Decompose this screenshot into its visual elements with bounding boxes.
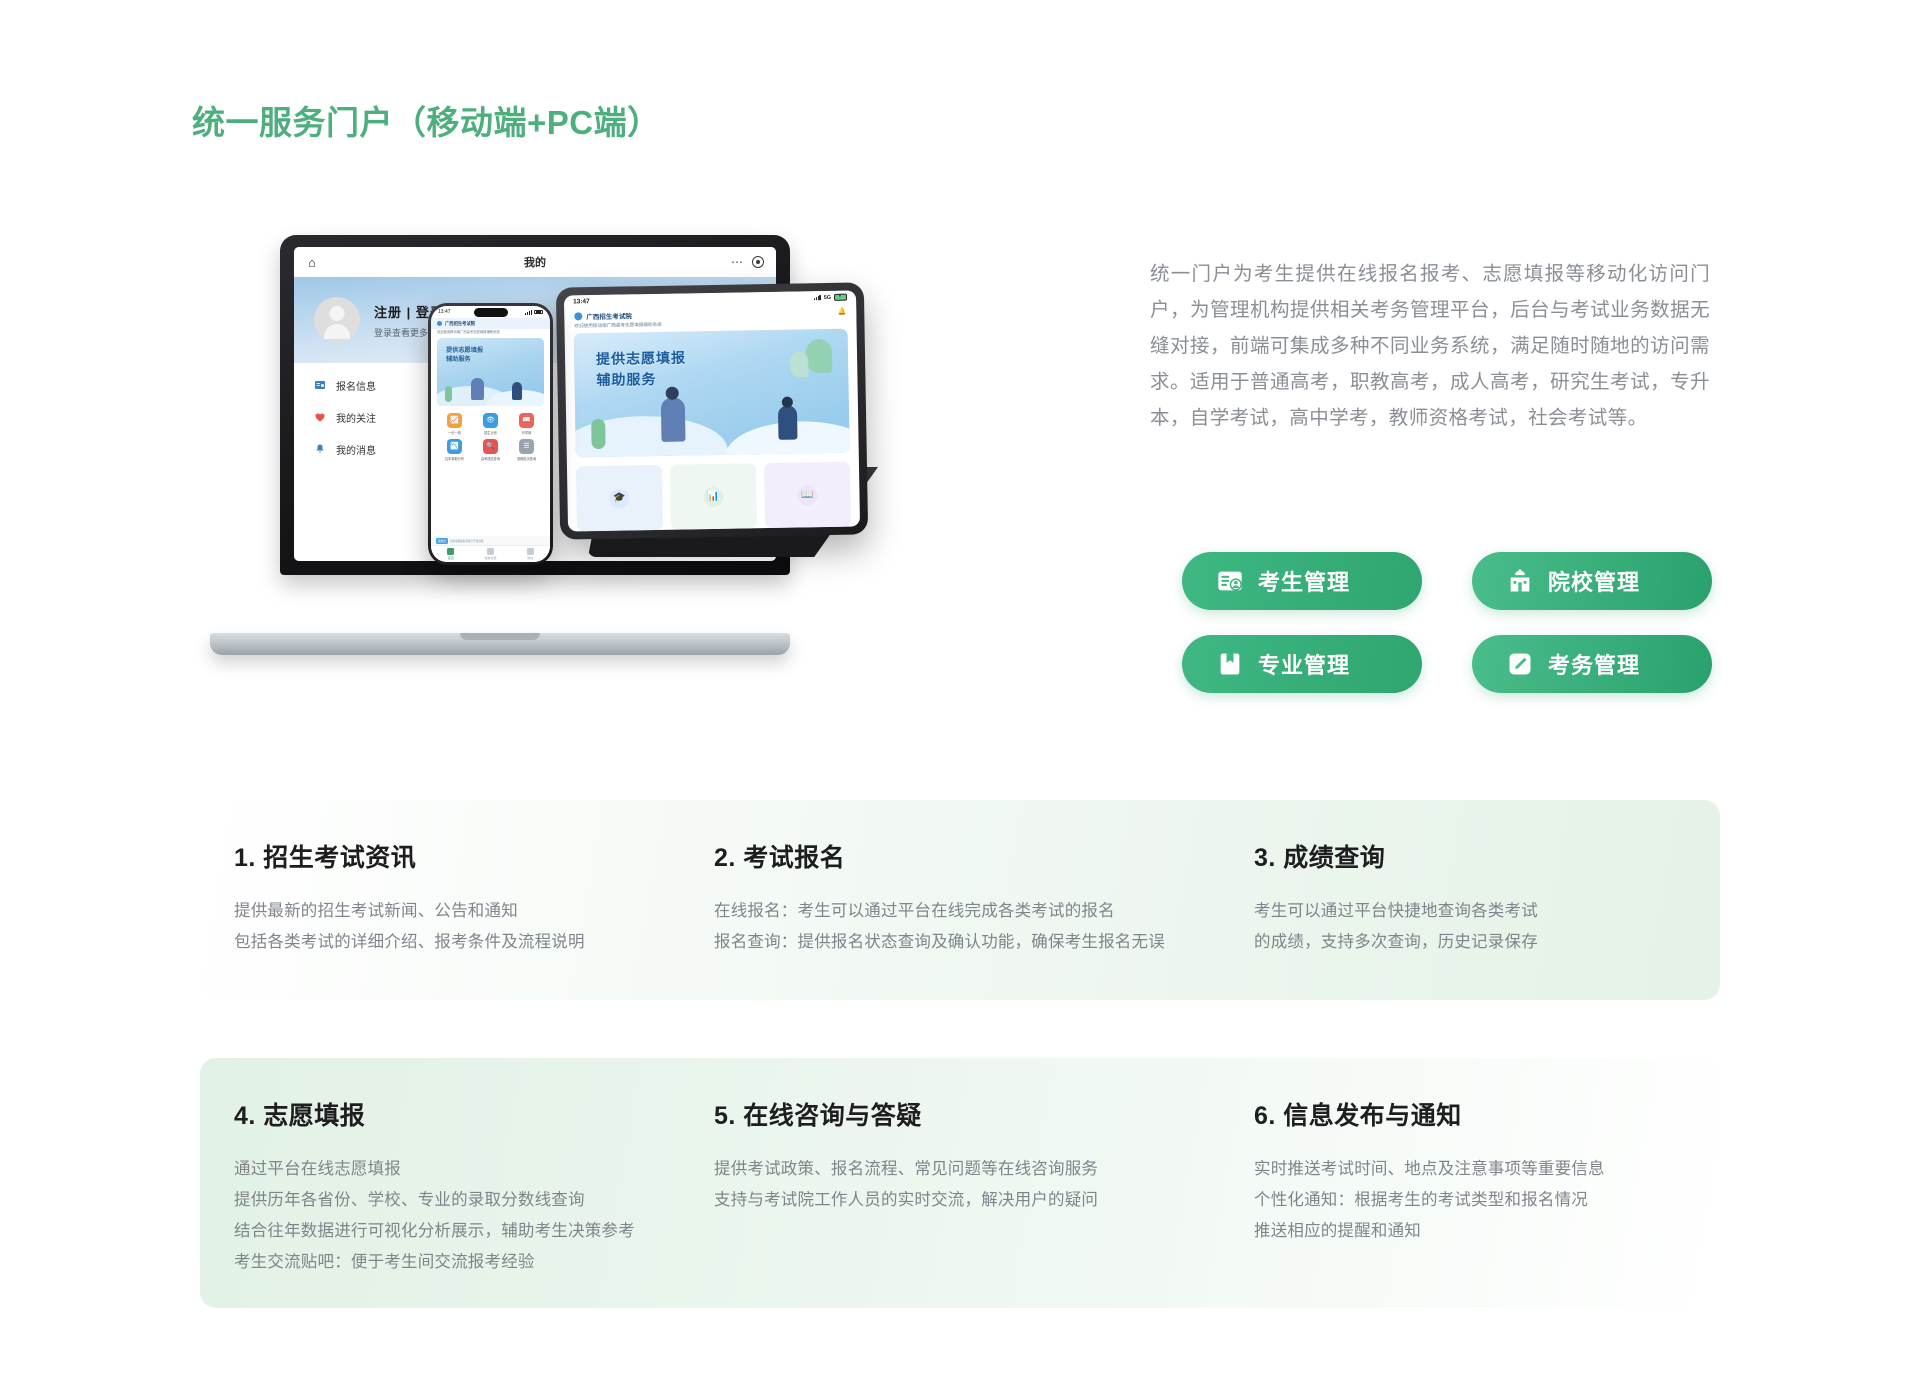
feature-line: 在线报名：考生可以通过平台在线完成各类考试的报名 [714,896,1186,927]
feature-line: 报名查询：提供报名状态查询及确认功能，确保考生报名无误 [714,927,1186,958]
phone-notice-bar[interactable]: 模拟志 志愿填报辅助系统已开放注册 [431,536,550,545]
phone-welcome-text: 欢迎使用移动端广西高考志愿填报辅助系统 [431,329,550,338]
form-icon [314,379,326,391]
feature-card-2: 2. 考试报名 在线报名：考生可以通过平台在线完成各类考试的报名 报名查询：提供… [680,800,1220,1000]
button-label: 考务管理 [1548,648,1640,680]
search-doc-icon: 🔍 [483,439,498,454]
banner-tree-icon [591,419,606,449]
phone-grid-item[interactable]: 📉 往年录取分布 [438,439,471,461]
feature-card-3: 3. 成绩查询 考生可以通过平台快捷地查询各类考试 的成绩，支持多次查询，历史记… [1220,800,1720,1000]
banner-person-2 [778,406,798,440]
candidate-management-button[interactable]: 考生管理 [1182,552,1422,610]
menu-item-label: 我的关注 [336,410,376,425]
phone-app-header: 广西招生考试院 [431,318,550,329]
menu-item-label: 我的消息 [336,442,376,457]
feature-row-2: 4. 志愿填报 通过平台在线志愿填报 提供历年各省份、学校、专业的录取分数线查询… [200,1058,1720,1308]
phone-notice-badge: 模拟志 [436,538,448,544]
banner-line-2: 辅助服务 [596,371,656,388]
laptop-topbar: ⌂ 我的 ⋯ [294,247,776,277]
banner-tree-icon [445,386,452,402]
feature-line: 包括各类考试的详细介绍、报考条件及流程说明 [234,927,646,958]
phone-tab-label: 我的 [527,556,533,560]
phone-grid-item[interactable]: 📈 一分一档 [438,413,471,435]
phone-status-bar: 13:47 [431,306,550,318]
logo-icon [437,321,442,326]
phone-grid-item[interactable]: 👁 招生计划 [474,413,507,435]
device-mockup-group: ⌂ 我的 ⋯ 注册 | 登录 登录查看更多信息 [170,235,910,695]
phone-tab-label: 模拟志愿 [485,556,497,560]
phone-status-icons [525,310,543,315]
feature-card-5: 5. 在线咨询与答疑 提供考试政策、报名流程、常见问题等在线咨询服务 支持与考试… [680,1058,1220,1308]
feature-line: 提供最新的招生考试新闻、公告和通知 [234,896,646,927]
management-button-group: 考生管理 院校管理 专业管理 考务管理 [1182,552,1722,693]
button-label: 专业管理 [1258,648,1350,680]
phone-grid-item[interactable]: 🔍 高考成绩查询 [474,439,507,461]
feature-title: 4. 志愿填报 [234,1096,646,1132]
major-management-button[interactable]: 专业管理 [1182,635,1422,693]
phone-app-title: 广西招生考试院 [445,321,475,327]
phone-grid-label: 升学网 [522,430,532,435]
phone-tab-label: 首页 [448,556,454,560]
button-label: 院校管理 [1548,565,1640,597]
page-root: 统一服务门户（移动端+PC端） ⌂ 我的 ⋯ [0,0,1920,1392]
feature-line: 提供历年各省份、学校、专业的录取分数线查询 [234,1185,646,1216]
laptop-base [210,633,790,655]
tablet-quick-cards: 🎓 📊 📖 [567,452,860,531]
signal-icon [814,295,821,300]
phone-tab-home[interactable]: 首页 [431,546,471,562]
feature-line: 支持与考试院工作人员的实时交流，解决用户的疑问 [714,1185,1186,1216]
tablet-mockup: 13:47 5G 广西招生考试院 🔔 欢迎使用移动端广西高考志愿填报辅助系统 [556,282,868,539]
laptop-page-title: 我的 [294,254,776,270]
phone-hero-banner[interactable]: 提供志愿填报 辅助服务 [437,338,544,406]
phone-grid-label: 高考成绩查询 [481,456,500,461]
phone-grid-label: 招生计划 [484,430,497,435]
tablet-card-1[interactable]: 🎓 [576,465,663,531]
phone-grid-label: 一分一档 [448,430,461,435]
bell-icon[interactable]: 🔔 [837,307,846,315]
network-label: 5G [824,294,831,300]
feature-card-6: 6. 信息发布与通知 实时推送考试时间、地点及注意事项等重要信息 个性化通知：根… [1220,1058,1720,1308]
school-management-button[interactable]: 院校管理 [1472,552,1712,610]
tablet-app-title: 广西招生考试院 [586,310,632,321]
feature-title: 1. 招生考试资讯 [234,838,646,874]
banner-leaf-icon [806,339,833,373]
target-icon[interactable] [752,256,764,268]
button-label: 考生管理 [1258,565,1350,597]
page-title: 统一服务门户（移动端+PC端） [192,96,661,144]
feature-line: 的成绩，支持多次查询，历史记录保存 [1254,927,1686,958]
list-icon: ☰ [519,439,534,454]
battery-icon [534,310,543,315]
feature-line: 推送相应的提醒和通知 [1254,1216,1686,1247]
feature-title: 2. 考试报名 [714,838,1186,874]
exam-affairs-management-button[interactable]: 考务管理 [1472,635,1712,693]
phone-icon-grid: 📈 一分一档 👁 招生计划 📖 升学网 📉 往年录取分布 [431,406,550,545]
feature-line: 实时推送考试时间、地点及注意事项等重要信息 [1254,1154,1686,1185]
graduation-cap-icon: 🎓 [609,488,629,508]
feature-card-4: 4. 志愿填报 通过平台在线志愿填报 提供历年各省份、学校、专业的录取分数线查询… [200,1058,680,1308]
home-icon[interactable]: ⌂ [308,256,316,269]
feature-card-1: 1. 招生考试资讯 提供最新的招生考试新闻、公告和通知 包括各类考试的详细介绍、… [200,800,680,1000]
logo-icon [574,312,582,320]
feature-line: 结合往年数据进行可视化分析展示，辅助考生决策参考 [234,1216,646,1247]
phone-clock: 13:47 [438,309,451,315]
feature-line: 考生可以通过平台快捷地查询各类考试 [1254,896,1686,927]
avatar [314,297,360,343]
phone-banner-text: 提供志愿填报 辅助服务 [446,347,483,365]
feature-line: 个性化通知：根据考生的考试类型和报名情况 [1254,1185,1686,1216]
tablet-card-2[interactable]: 📊 [670,463,757,529]
portal-description: 统一门户为考生提供在线报名报考、志愿填报等移动化访问门户，为管理机构提供相关考务… [1150,256,1710,436]
banner-person-2 [512,382,522,400]
phone-grid-item[interactable]: 📖 升学网 [510,413,543,435]
eye-icon: 👁 [483,413,498,428]
laptop-notch [460,633,540,640]
banner-person-1 [661,397,686,441]
feature-line: 通过平台在线志愿填报 [234,1154,646,1185]
tablet-banner-text: 提供志愿填报 辅助服务 [596,347,687,391]
book-icon: 📖 [797,485,817,505]
home-icon [447,548,454,555]
phone-screen: 13:47 广西招生考试院 欢迎使用移动端广西高考志愿填报辅助系统 [431,306,550,562]
tablet-card-3[interactable]: 📖 [764,462,851,528]
feature-title: 3. 成绩查询 [1254,838,1686,874]
id-card-user-icon [1216,567,1244,595]
school-icon [1506,567,1534,595]
banner-line-1: 提供志愿填报 [596,349,686,367]
banner-leaf-icon-2 [790,351,808,377]
banner-line-2: 辅助服务 [446,356,471,363]
menu-item-label: 报名信息 [336,378,376,393]
tablet-screen: 13:47 5G 广西招生考试院 🔔 欢迎使用移动端广西高考志愿填报辅助系统 [564,290,860,531]
book-icon: 📖 [519,413,534,428]
feature-line: 考生交流贴吧：便于考生间交流报考经验 [234,1247,646,1278]
phone-notice-text: 志愿填报辅助系统已开放注册 [450,539,484,543]
chart-icon: 📊 [703,486,723,506]
pencil-square-icon [1506,650,1534,678]
feature-row-1: 1. 招生考试资讯 提供最新的招生考试新闻、公告和通知 包括各类考试的详细介绍、… [200,800,1720,1000]
phone-notch [474,308,508,317]
phone-grid-item[interactable]: ☰ 录取批次查询 [510,439,543,461]
bell-icon [314,443,326,455]
feature-title: 5. 在线咨询与答疑 [714,1096,1186,1132]
phone-grid-label: 录取批次查询 [517,456,536,461]
laptop-topbar-actions: ⋯ [731,255,764,269]
battery-charging-icon [834,294,847,301]
phone-mockup: 13:47 广西招生考试院 欢迎使用移动端广西高考志愿填报辅助系统 [428,303,553,565]
clipboard-icon [487,548,494,555]
feature-title: 6. 信息发布与通知 [1254,1096,1686,1132]
bar-chart-icon: 📈 [447,413,462,428]
tablet-clock: 13:47 [573,298,590,305]
phone-tab-mock-volunteer[interactable]: 模拟志愿 [471,546,511,562]
tablet-hero-banner[interactable]: 提供志愿填报 辅助服务 [574,329,850,458]
phone-tab-mine[interactable]: 我的 [510,546,550,562]
banner-line-1: 提供志愿填报 [446,347,483,354]
user-icon [527,548,534,555]
phone-grid-label: 往年录取分布 [445,456,464,461]
more-dots-icon[interactable]: ⋯ [731,255,744,269]
banner-person-1 [471,378,484,400]
phone-tab-bar: 首页 模拟志愿 我的 [431,545,550,562]
chart-line-icon: 📉 [447,439,462,454]
heart-icon [314,411,326,423]
book-bookmark-icon [1216,650,1244,678]
signal-icon [525,310,532,315]
tablet-status-icons: 5G [814,294,847,302]
feature-line: 提供考试政策、报名流程、常见问题等在线咨询服务 [714,1154,1186,1185]
